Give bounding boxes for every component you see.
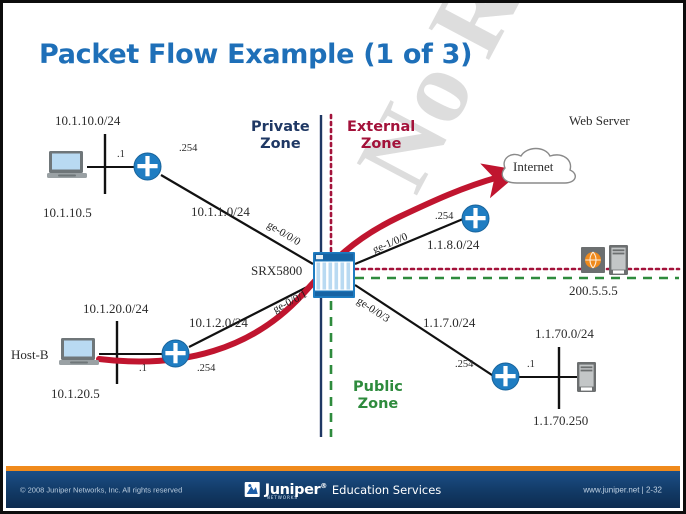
zone-label-public-line1: Public [353, 379, 403, 396]
network-label-link-top-right: 1.1.8.0/24 [427, 237, 479, 253]
network-diagram: 10.1.10.0/24 .1 .254 10.1.10.5 10.1.1.0/… [3, 89, 683, 469]
zone-label-public-line2: Zone [353, 396, 403, 413]
device-label-internet: Internet [513, 159, 553, 175]
zone-label-private-line1: Private [251, 119, 310, 136]
footer-right: www.juniper.net | 2-32 [583, 485, 662, 494]
octet-top-left-one: .1 [117, 149, 125, 160]
host-address-top-left: 10.1.10.5 [43, 205, 92, 221]
brand-trademark: ® [320, 482, 327, 490]
juniper-logo-icon [245, 482, 260, 497]
host-label-host-b: Host-B [11, 347, 49, 363]
octet-bottom-right-254: .254 [455, 359, 473, 370]
octet-bottom-left-254: .254 [197, 363, 215, 374]
server-icon [609, 245, 628, 275]
router-icon [162, 340, 189, 367]
copyright-text: © 2008 Juniper Networks, Inc. All rights… [20, 485, 182, 494]
laptop-icon [59, 338, 99, 365]
globe-icon [581, 247, 605, 273]
laptop-icon [47, 151, 87, 178]
footer-url: www.juniper.net [583, 485, 639, 494]
octet-bottom-left-one: .1 [139, 363, 147, 374]
octet-top-right-254: .254 [435, 211, 453, 222]
footer-separator: | [642, 485, 644, 494]
router-icon [462, 205, 489, 232]
footer: © 2008 Juniper Networks, Inc. All rights… [6, 466, 680, 508]
zone-label-private-line2: Zone [251, 136, 310, 153]
network-label-lan-public: 1.1.70.0/24 [535, 326, 594, 342]
address-public-server: 1.1.70.250 [533, 413, 588, 429]
zone-label-external-line1: External [347, 119, 415, 136]
link-srx-to-routerBR [355, 285, 495, 377]
device-label-srx: SRX5800 [251, 263, 302, 279]
octet-top-left-254: .254 [179, 143, 197, 154]
footer-bar: © 2008 Juniper Networks, Inc. All rights… [6, 471, 680, 508]
network-label-lan-bottom: 10.1.20.0/24 [83, 301, 148, 317]
network-label-link-top-left: 10.1.1.0/24 [191, 204, 250, 220]
server-icon [577, 362, 596, 392]
router-icon [134, 153, 161, 180]
brand-subtitle: NETWORKS [267, 495, 298, 500]
juniper-brand: Juniper® NETWORKS Education Services [245, 482, 442, 498]
zone-label-public: Public Zone [353, 379, 403, 413]
address-web-server: 200.5.5.5 [569, 283, 618, 299]
zone-label-private: Private Zone [251, 119, 310, 153]
page-title: Packet Flow Example (1 of 3) [39, 39, 472, 70]
router-icon [492, 363, 519, 390]
zone-label-external-line2: Zone [347, 136, 415, 153]
octet-bottom-right-one: .1 [527, 359, 535, 370]
host-address-host-b: 10.1.20.5 [51, 386, 100, 402]
device-label-web-server: Web Server [569, 113, 630, 129]
zone-label-external: External Zone [347, 119, 415, 153]
slide-number: 2-32 [646, 485, 662, 494]
slide: Packet Flow Example (1 of 3) No Reproduc… [0, 0, 686, 514]
brand-tagline: Education Services [332, 483, 441, 497]
diagram-canvas [3, 89, 683, 469]
network-label-lan-top: 10.1.10.0/24 [55, 113, 120, 129]
brand-name: Juniper® NETWORKS [265, 482, 327, 498]
chassis-icon [313, 252, 355, 298]
network-label-link-bottom-left: 10.1.2.0/24 [189, 315, 248, 331]
network-label-link-bottom-right: 1.1.7.0/24 [423, 315, 475, 331]
